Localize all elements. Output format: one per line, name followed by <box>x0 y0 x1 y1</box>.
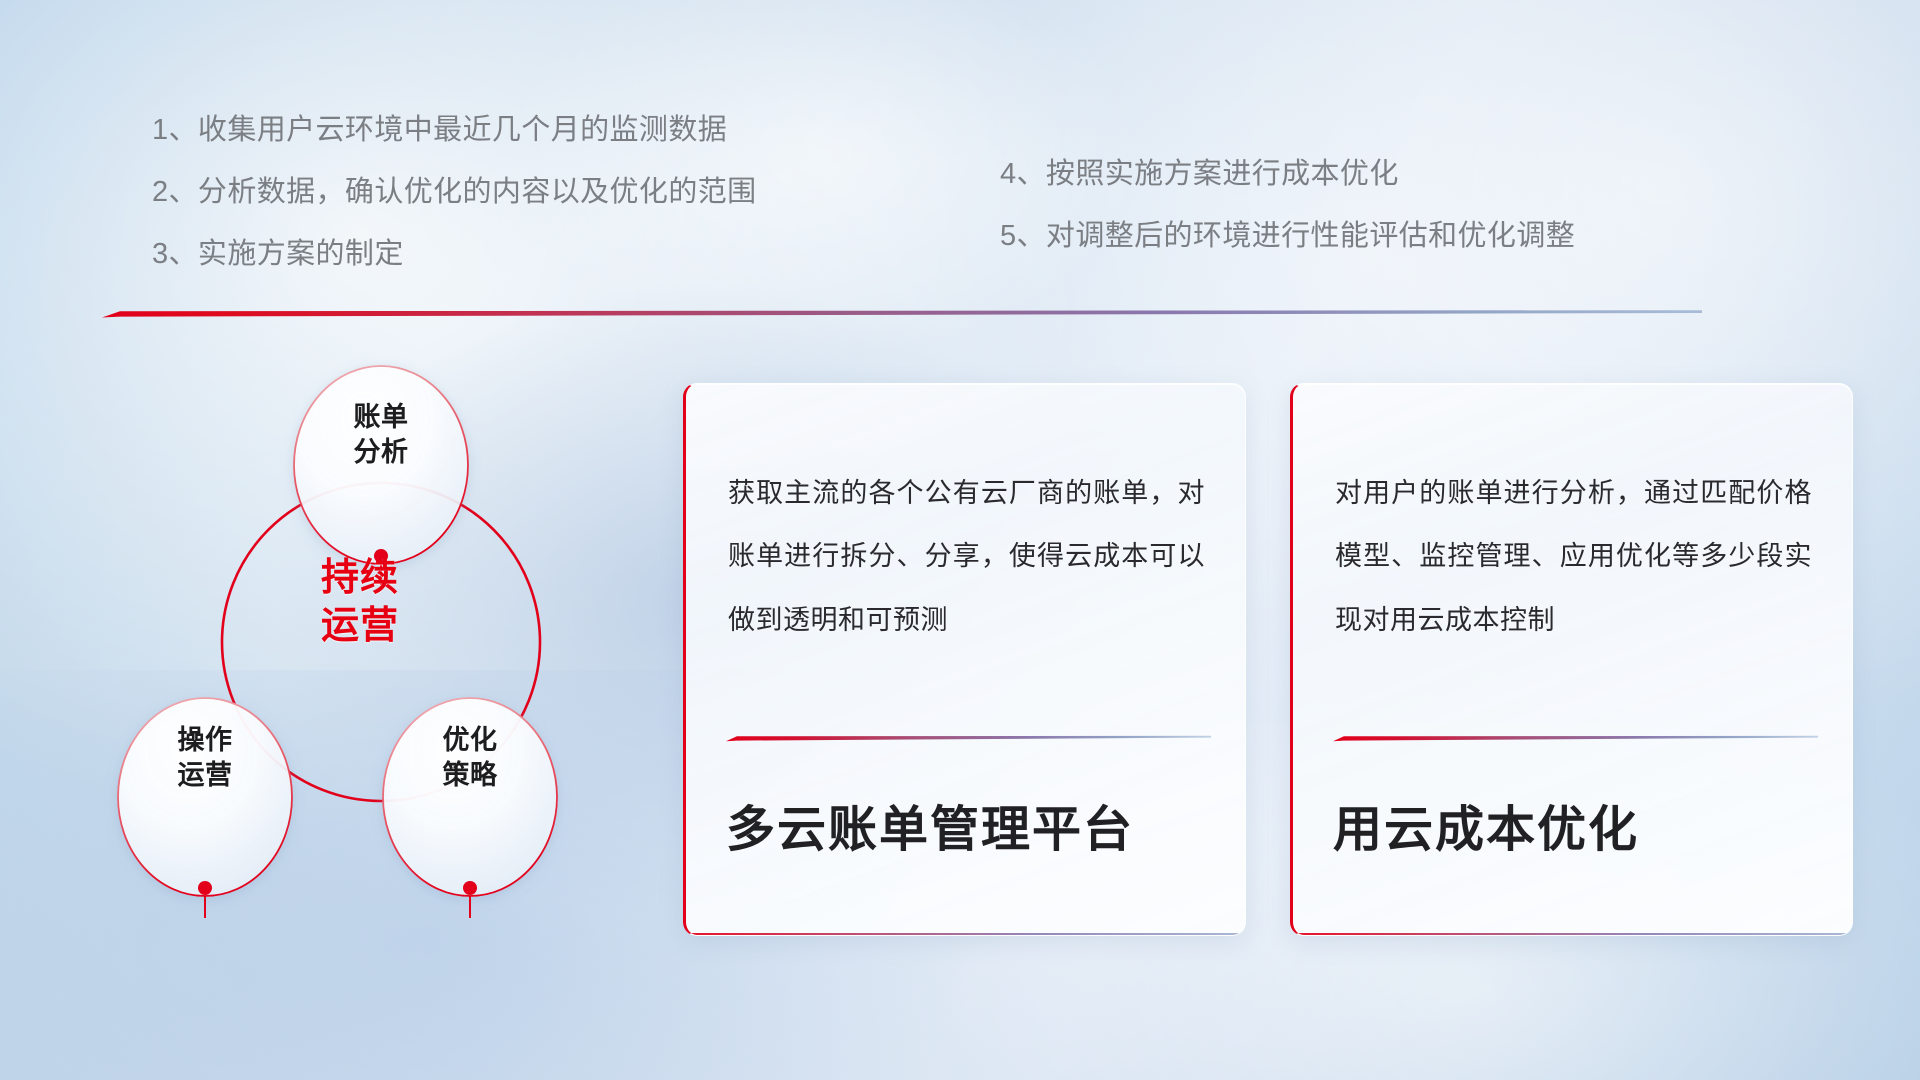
card-divider <box>1333 729 1818 736</box>
card-title: 用云成本优化 <box>1333 804 1822 858</box>
feature-card-cloud-cost-optimization[interactable]: 对用户的账单进行分析，通过匹配价格模型、监控管理、应用优化等多少段实现对用云成本… <box>1290 383 1853 936</box>
card-body-text: 对用户的账单进行分析，通过匹配价格模型、监控管理、应用优化等多少段实现对用云成本… <box>1335 462 1812 652</box>
feature-cards: 获取主流的各个公有云厂商的账单，对账单进行拆分、分享，使得云成本可以做到透明和可… <box>0 0 1920 1080</box>
feature-card-multi-cloud-billing[interactable]: 获取主流的各个公有云厂商的账单，对账单进行拆分、分享，使得云成本可以做到透明和可… <box>683 383 1246 936</box>
card-body-text: 获取主流的各个公有云厂商的账单，对账单进行拆分、分享，使得云成本可以做到透明和可… <box>728 462 1205 652</box>
card-title: 多云账单管理平台 <box>726 804 1215 858</box>
card-divider <box>726 729 1211 736</box>
